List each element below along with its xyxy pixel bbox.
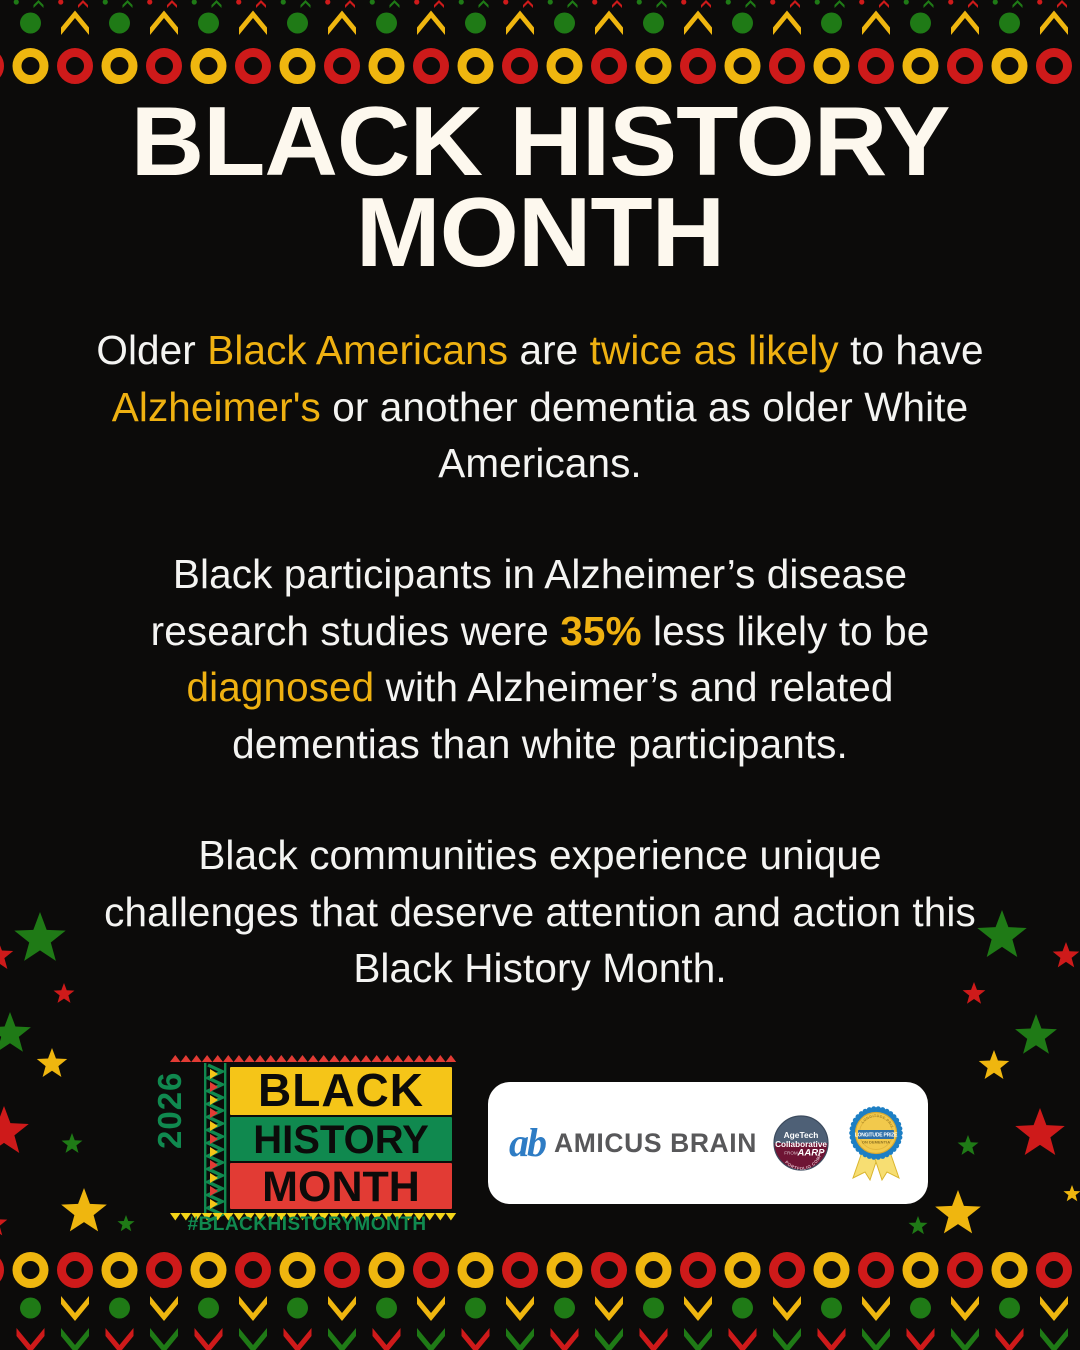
amicus-brain-wordmark: ab AMICUS BRAIN xyxy=(509,1123,757,1163)
text-segment: Older xyxy=(96,327,207,373)
bottom-ring-row xyxy=(0,1257,1080,1284)
agetech-line-1: AgeTech xyxy=(784,1130,819,1140)
top-chevron-circle-row xyxy=(0,11,1080,36)
text-segment: twice as likely xyxy=(590,327,839,373)
amicus-brain-logo-card: ab AMICUS BRAIN AgeTech Collaborative FR… xyxy=(488,1082,928,1204)
paragraph-stat-twice-as-likely: Older Black Americans are twice as likel… xyxy=(96,322,984,492)
star-icon xyxy=(0,1012,31,1052)
black-history-month-2026-logo: 2026 BLACK HISTORY MONTH #BLACKHISTORYMO… xyxy=(152,1053,462,1233)
bhm-word-history: HISTORY xyxy=(253,1118,429,1162)
text-segment: Black communities experience unique chal… xyxy=(104,832,976,991)
paragraph-call-to-action: Black communities experience unique chal… xyxy=(96,827,984,997)
poster-canvas: BLACK HISTORY MONTH Older Black American… xyxy=(0,0,1080,1350)
bhm-zigzag-column xyxy=(204,1063,226,1221)
bhm-year-text: 2026 xyxy=(152,1072,188,1149)
text-segment: are xyxy=(508,327,590,373)
body-copy: Older Black Americans are twice as likel… xyxy=(0,322,1080,997)
top-ring-row xyxy=(0,53,1080,80)
top-micro-chevron-row xyxy=(0,0,1080,8)
bottom-low-chevron-row xyxy=(0,1328,1080,1350)
bhm-hashtag-text: #BLACKHISTORYMONTH xyxy=(187,1214,426,1233)
longitude-prize-on-dementia-badge: LONGITUDE PRIZE LONGITUDE PRIZE ON DEMEN… xyxy=(845,1104,907,1182)
agetech-collaborative-aarp-badge: AgeTech Collaborative FROM AARP PORTFOLI… xyxy=(771,1113,831,1173)
bhm-word-month: MONTH xyxy=(262,1163,420,1211)
text-segment: 35% xyxy=(560,608,641,654)
text-segment: or another dementia as older White Ameri… xyxy=(321,384,968,487)
amicus-brain-name: AMICUS BRAIN xyxy=(554,1128,757,1159)
logo-row: 2026 BLACK HISTORY MONTH #BLACKHISTORYMO… xyxy=(0,1048,1080,1238)
ab-monogram-icon: ab xyxy=(509,1123,545,1163)
bottom-border-pattern xyxy=(0,1248,1080,1350)
headline-text: BLACK HISTORY MONTH xyxy=(0,96,1080,278)
bottom-chevron-circle-row xyxy=(0,1296,1080,1321)
bhm-word-black: BLACK xyxy=(258,1064,424,1116)
bhm-top-triangle-strip xyxy=(170,1055,456,1062)
headline-line-2: MONTH xyxy=(356,177,724,287)
top-border-pattern xyxy=(0,0,1080,92)
paragraph-stat-35-percent: Black participants in Alzheimer’s diseas… xyxy=(96,546,984,773)
page-title: BLACK HISTORY MONTH xyxy=(0,96,1080,278)
text-segment: Alzheimer's xyxy=(112,384,321,430)
text-segment: to have xyxy=(839,327,984,373)
agetech-line-3: FROM xyxy=(784,1151,798,1156)
text-segment: Black Americans xyxy=(207,327,508,373)
longitude-line-1: LONGITUDE PRIZE xyxy=(855,1132,898,1138)
longitude-line-2: ON DEMENTIA xyxy=(862,1139,890,1144)
text-segment: less likely to be xyxy=(642,608,930,654)
text-segment: diagnosed xyxy=(186,664,374,710)
